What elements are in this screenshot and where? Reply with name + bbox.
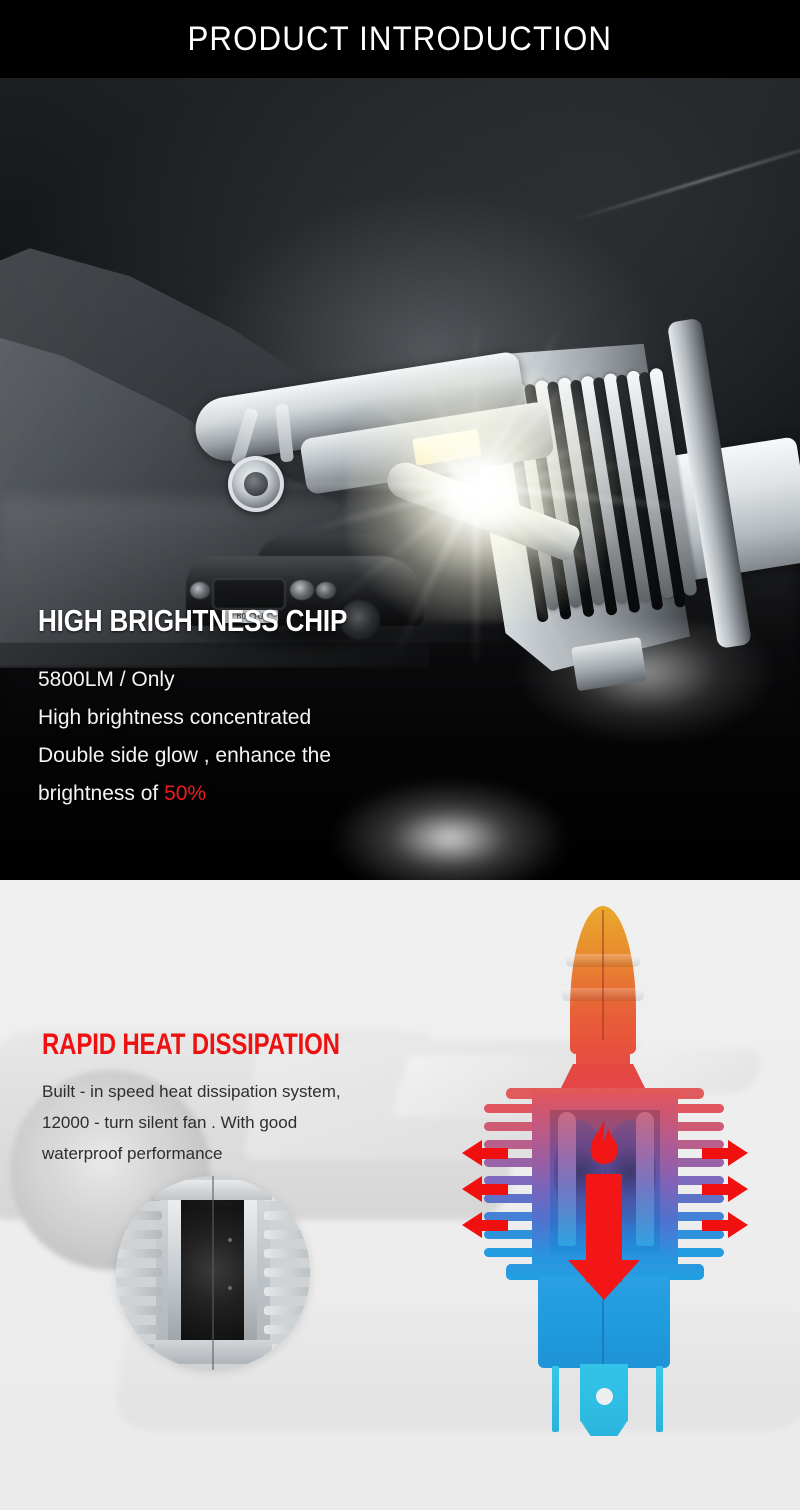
heat-line-1: Built - in speed heat dissipation system… (42, 1076, 414, 1107)
fan-inset-fin (116, 1287, 162, 1296)
heat-flame-icon (580, 1120, 628, 1182)
section-rapid-heat-dissipation: RAPID HEAT DISSIPATION Built - in speed … (0, 880, 800, 1510)
heat-line-3: waterproof performance (42, 1138, 414, 1169)
heatsink-vane-left (558, 1112, 576, 1246)
heat-out-arrow-left (462, 1176, 508, 1202)
arrow-shaft (702, 1220, 728, 1231)
fan-inset-fin (116, 1249, 162, 1258)
arrow-shaft (482, 1220, 508, 1231)
heat-dissipation-text-block: RAPID HEAT DISSIPATION Built - in speed … (42, 1028, 414, 1169)
brightness-increase-value: 50% (164, 782, 206, 805)
feature-line-4-prefix: brightness of (38, 782, 164, 805)
bulb-underglow (516, 624, 776, 744)
cooling-fan-inset (116, 1176, 310, 1370)
light-ray (473, 308, 480, 485)
fan-inset-fin (116, 1268, 162, 1277)
arrow-head (462, 1212, 482, 1238)
fan-inset-fin (116, 1325, 162, 1334)
light-ray (239, 482, 476, 489)
product-introduction-page: PRODUCT INTRODUCTION B00 TU (0, 0, 800, 1510)
arrow-head (728, 1212, 748, 1238)
section-high-brightness-chip: B00 TU HIGH BRIGHTNESS CH (0, 78, 800, 880)
heat-out-arrow-right (702, 1176, 748, 1202)
fan-inset-fin (116, 1306, 162, 1315)
page-title: PRODUCT INTRODUCTION (188, 20, 613, 59)
fan-inset-fin (264, 1211, 310, 1220)
bulb-pin-left (552, 1366, 559, 1432)
arrow-head (728, 1176, 748, 1202)
bulb-pin-right (656, 1366, 663, 1432)
arrow-shaft (702, 1148, 728, 1159)
section-heading-rapid-heat: RAPID HEAT DISSIPATION (42, 1028, 340, 1062)
heat-out-arrow-left (462, 1212, 508, 1238)
fan-hub-dot-top (228, 1238, 232, 1242)
heat-line-2: 12000 - turn silent fan . With good (42, 1107, 414, 1138)
arrow-shaft (482, 1148, 508, 1159)
fan-inset-seam (212, 1176, 214, 1370)
arrow-shaft (702, 1184, 728, 1195)
page-header: PRODUCT INTRODUCTION (0, 0, 800, 78)
heatsink-vane-right (636, 1112, 654, 1246)
fan-inset-fin (116, 1211, 162, 1220)
feature-line-1: 5800LM / Only (38, 661, 406, 699)
light-ray (473, 486, 480, 674)
arrow-head (462, 1176, 482, 1202)
fan-inset-fin (264, 1287, 310, 1296)
fan-hub-dot-bottom (228, 1286, 232, 1290)
feature-line-4: brightness of 50% (38, 775, 406, 813)
connector-hole (596, 1388, 613, 1405)
fan-inset-post-right (244, 1198, 257, 1348)
arrow-head (462, 1140, 482, 1166)
fan-inset-fin (264, 1230, 310, 1239)
heat-out-arrow-left (462, 1140, 508, 1166)
fan-blades (178, 1206, 250, 1334)
fan-inset-fin (116, 1230, 162, 1239)
fan-inset-fin (264, 1268, 310, 1277)
heat-out-arrow-right (702, 1212, 748, 1238)
arrow-shaft (482, 1184, 508, 1195)
heat-out-arrow-right (702, 1140, 748, 1166)
arrow-head (728, 1140, 748, 1166)
fan-inset-fin (264, 1325, 310, 1334)
feature-line-3: Double side glow , enhance the (38, 737, 406, 775)
thermal-gradient-bulb-diagram (440, 888, 800, 1488)
fan-inset-fin (264, 1249, 310, 1258)
fan-inset-post-left (168, 1198, 181, 1348)
high-brightness-text-block: HIGH BRIGHTNESS CHIP 5800LM / Only High … (38, 603, 406, 813)
section-heading-high-brightness: HIGH BRIGHTNESS CHIP (38, 603, 347, 639)
feature-line-2: High brightness concentrated (38, 699, 406, 737)
fan-inset-fin (264, 1306, 310, 1315)
